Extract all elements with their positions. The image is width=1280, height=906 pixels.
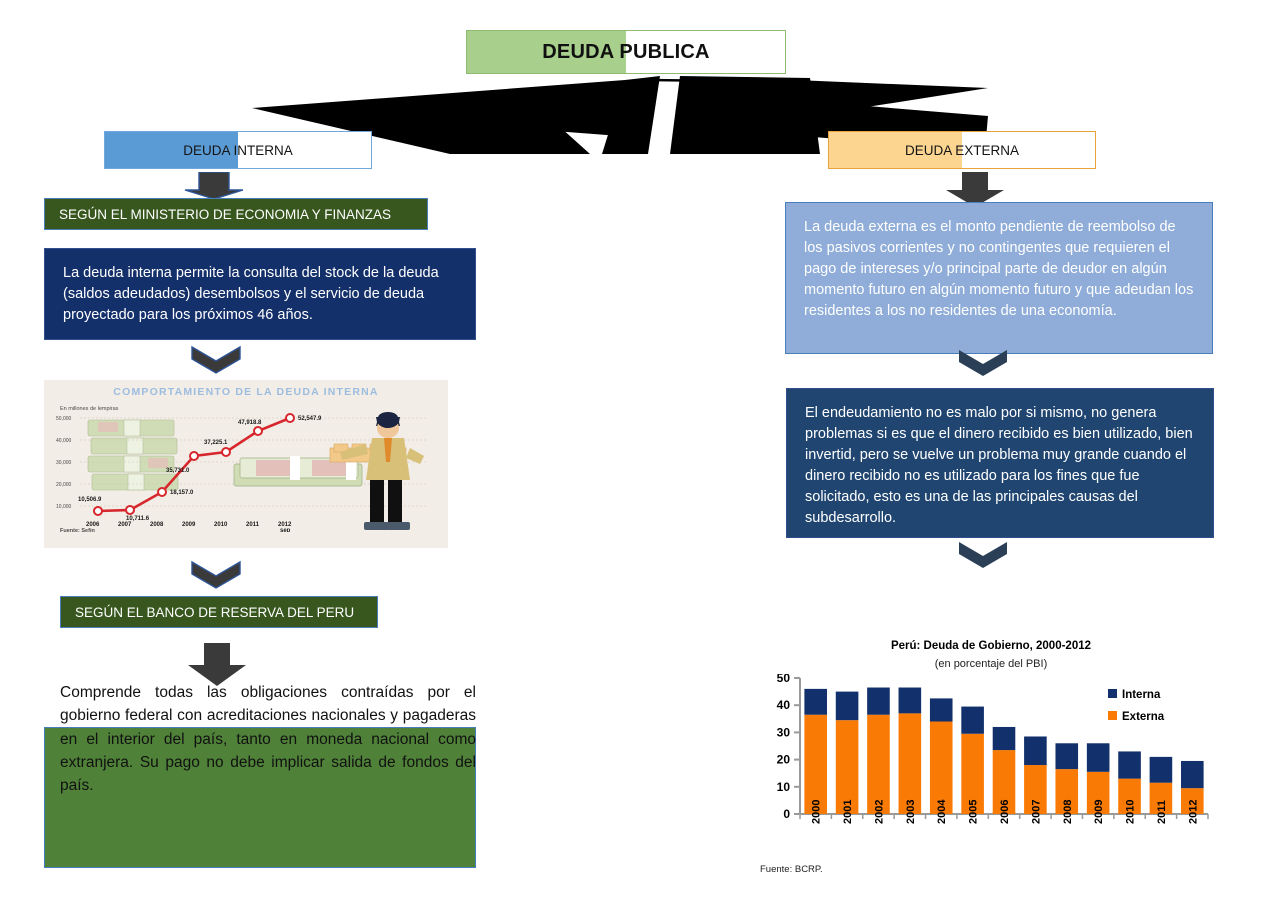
chevron-down-icon — [188, 560, 244, 590]
banner-banco-reserva: SEGÚN EL BANCO DE RESERVA DEL PERU — [60, 596, 378, 628]
svg-text:10,506.9: 10,506.9 — [78, 497, 102, 503]
infographic-plot: 50,000 40,000 30,000 20,000 10,000 — [54, 402, 444, 532]
svg-text:2007: 2007 — [1030, 800, 1042, 824]
svg-text:2010: 2010 — [214, 522, 228, 528]
banner-brp-label: SEGÚN EL BANCO DE RESERVA DEL PERU — [75, 605, 354, 620]
definition-box-deuda-externa: La deuda externa es el monto pendiente d… — [785, 202, 1213, 354]
svg-text:18,157.0: 18,157.0 — [170, 490, 194, 496]
svg-text:Externa: Externa — [1122, 711, 1165, 723]
svg-text:47,918.8: 47,918.8 — [238, 420, 262, 426]
chevron-down-icon — [188, 345, 244, 375]
svg-text:2008: 2008 — [1062, 800, 1074, 824]
svg-text:30: 30 — [777, 725, 791, 739]
svg-text:2011: 2011 — [1156, 800, 1168, 824]
definition-brp-text-wrapper: Comprende todas las obligaciones contraí… — [52, 682, 472, 728]
svg-text:2004: 2004 — [936, 799, 948, 824]
branch-deuda-interna: DEUDA INTERNA — [104, 131, 372, 169]
chevron-down-icon — [955, 540, 1011, 570]
svg-text:2009: 2009 — [1093, 800, 1105, 824]
definition-externa-text: La deuda externa es el monto pendiente d… — [804, 219, 1193, 319]
svg-text:2010: 2010 — [1125, 800, 1137, 824]
branch-externa-label: DEUDA EXTERNA — [829, 132, 1095, 168]
branch-deuda-externa: DEUDA EXTERNA — [828, 131, 1096, 169]
svg-text:50,000: 50,000 — [56, 416, 72, 422]
svg-text:37,225.1: 37,225.1 — [204, 440, 228, 446]
branch-interna-label: DEUDA INTERNA — [105, 132, 371, 168]
definition-box-mef: La deuda interna permite la consulta del… — [44, 248, 476, 340]
svg-text:Interna: Interna — [1122, 689, 1161, 701]
svg-text:40,000: 40,000 — [56, 438, 72, 444]
svg-text:30,000: 30,000 — [56, 460, 72, 466]
svg-text:0: 0 — [783, 807, 790, 821]
svg-text:52,547.9: 52,547.9 — [298, 416, 322, 422]
arrow-down-icon — [181, 172, 247, 200]
svg-text:sep: sep — [280, 528, 291, 532]
svg-text:2009: 2009 — [182, 522, 196, 528]
chevron-down-icon — [955, 348, 1011, 378]
svg-text:40: 40 — [777, 698, 791, 712]
svg-text:2011: 2011 — [246, 522, 260, 528]
infographic-comportamiento-deuda-interna: COMPORTAMIENTO DE LA DEUDA INTERNA En mi… — [44, 380, 448, 548]
svg-text:20,000: 20,000 — [56, 482, 72, 488]
chart-subtitle: (en porcentaje del PBI) — [756, 658, 1226, 670]
svg-text:10,000: 10,000 — [56, 504, 72, 510]
definition-brp-text: Comprende todas las obligaciones contraí… — [60, 681, 476, 797]
banner-mef-label: SEGÚN EL MINISTERIO DE ECONOMIA Y FINANZ… — [59, 207, 391, 222]
svg-text:2005: 2005 — [968, 800, 980, 824]
note-box-endeudamiento: El endeudamiento no es malo por si mismo… — [786, 388, 1214, 538]
svg-text:10: 10 — [777, 780, 791, 794]
svg-text:2002: 2002 — [873, 800, 885, 824]
chart-deuda-gobierno: Perú: Deuda de Gobierno, 2000-2012 (en p… — [756, 636, 1226, 886]
note-externa-text: El endeudamiento no es malo por si mismo… — [805, 405, 1193, 526]
svg-text:2003: 2003 — [905, 800, 917, 824]
infographic-title: COMPORTAMIENTO DE LA DEUDA INTERNA — [44, 386, 448, 398]
svg-text:50: 50 — [777, 674, 791, 685]
svg-text:2000: 2000 — [811, 800, 823, 824]
svg-text:2012: 2012 — [1187, 800, 1199, 824]
banner-ministerio-economia: SEGÚN EL MINISTERIO DE ECONOMIA Y FINANZ… — [44, 198, 428, 230]
svg-text:20: 20 — [777, 753, 791, 767]
svg-text:2007: 2007 — [118, 522, 132, 528]
definition-mef-text: La deuda interna permite la consulta del… — [63, 265, 439, 323]
svg-text:2006: 2006 — [86, 522, 100, 528]
svg-text:2006: 2006 — [999, 800, 1011, 824]
chart-title: Perú: Deuda de Gobierno, 2000-2012 — [756, 640, 1226, 652]
svg-text:2008: 2008 — [150, 522, 164, 528]
chart-source: Fuente: BCRP. — [760, 864, 823, 875]
svg-text:35,731.0: 35,731.0 — [166, 468, 190, 474]
chart-plot-area: 0102030405020002001200220032004200520062… — [756, 674, 1226, 864]
svg-text:2001: 2001 — [842, 800, 854, 824]
